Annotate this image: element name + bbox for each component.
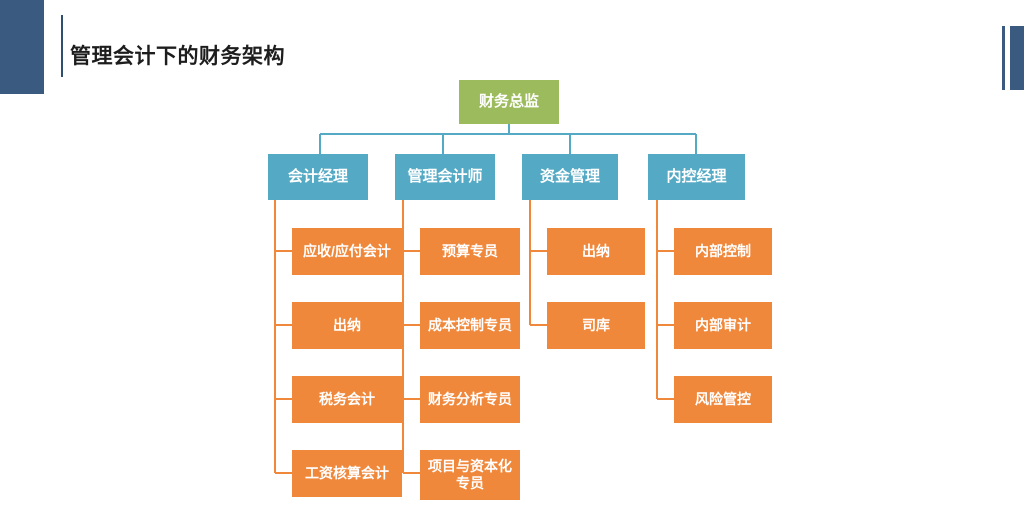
node-leaf-payroll-accounting[interactable]: 工资核算会计 xyxy=(292,450,402,497)
node-leaf-project-capitalization-specialist[interactable]: 项目与资本化专员 xyxy=(420,450,520,500)
node-branch-accounting-manager[interactable]: 会计经理 xyxy=(268,154,368,200)
node-leaf-cashier-treasury[interactable]: 出纳 xyxy=(547,228,645,275)
node-leaf-tax-accounting[interactable]: 税务会计 xyxy=(292,376,402,423)
node-branch-internal-control-manager[interactable]: 内控经理 xyxy=(648,154,745,200)
node-leaf-budget-specialist[interactable]: 预算专员 xyxy=(420,228,520,275)
node-leaf-cost-control-specialist[interactable]: 成本控制专员 xyxy=(420,302,520,349)
node-leaf-ar-ap-accounting[interactable]: 应收/应付会计 xyxy=(292,228,402,275)
node-leaf-internal-audit[interactable]: 内部审计 xyxy=(674,302,772,349)
node-leaf-cashier-accounting[interactable]: 出纳 xyxy=(292,302,402,349)
node-leaf-financial-analysis-specialist[interactable]: 财务分析专员 xyxy=(420,376,520,423)
org-chart: 财务总监 会计经理 管理会计师 资金管理 内控经理 应收/应付会计 出纳 税务会… xyxy=(0,0,1024,515)
node-leaf-risk-management[interactable]: 风险管控 xyxy=(674,376,772,423)
node-root[interactable]: 财务总监 xyxy=(459,80,559,124)
node-branch-management-accountant[interactable]: 管理会计师 xyxy=(395,154,495,200)
node-branch-treasury-management[interactable]: 资金管理 xyxy=(522,154,618,200)
node-leaf-treasurer[interactable]: 司库 xyxy=(547,302,645,349)
node-leaf-internal-control[interactable]: 内部控制 xyxy=(674,228,772,275)
